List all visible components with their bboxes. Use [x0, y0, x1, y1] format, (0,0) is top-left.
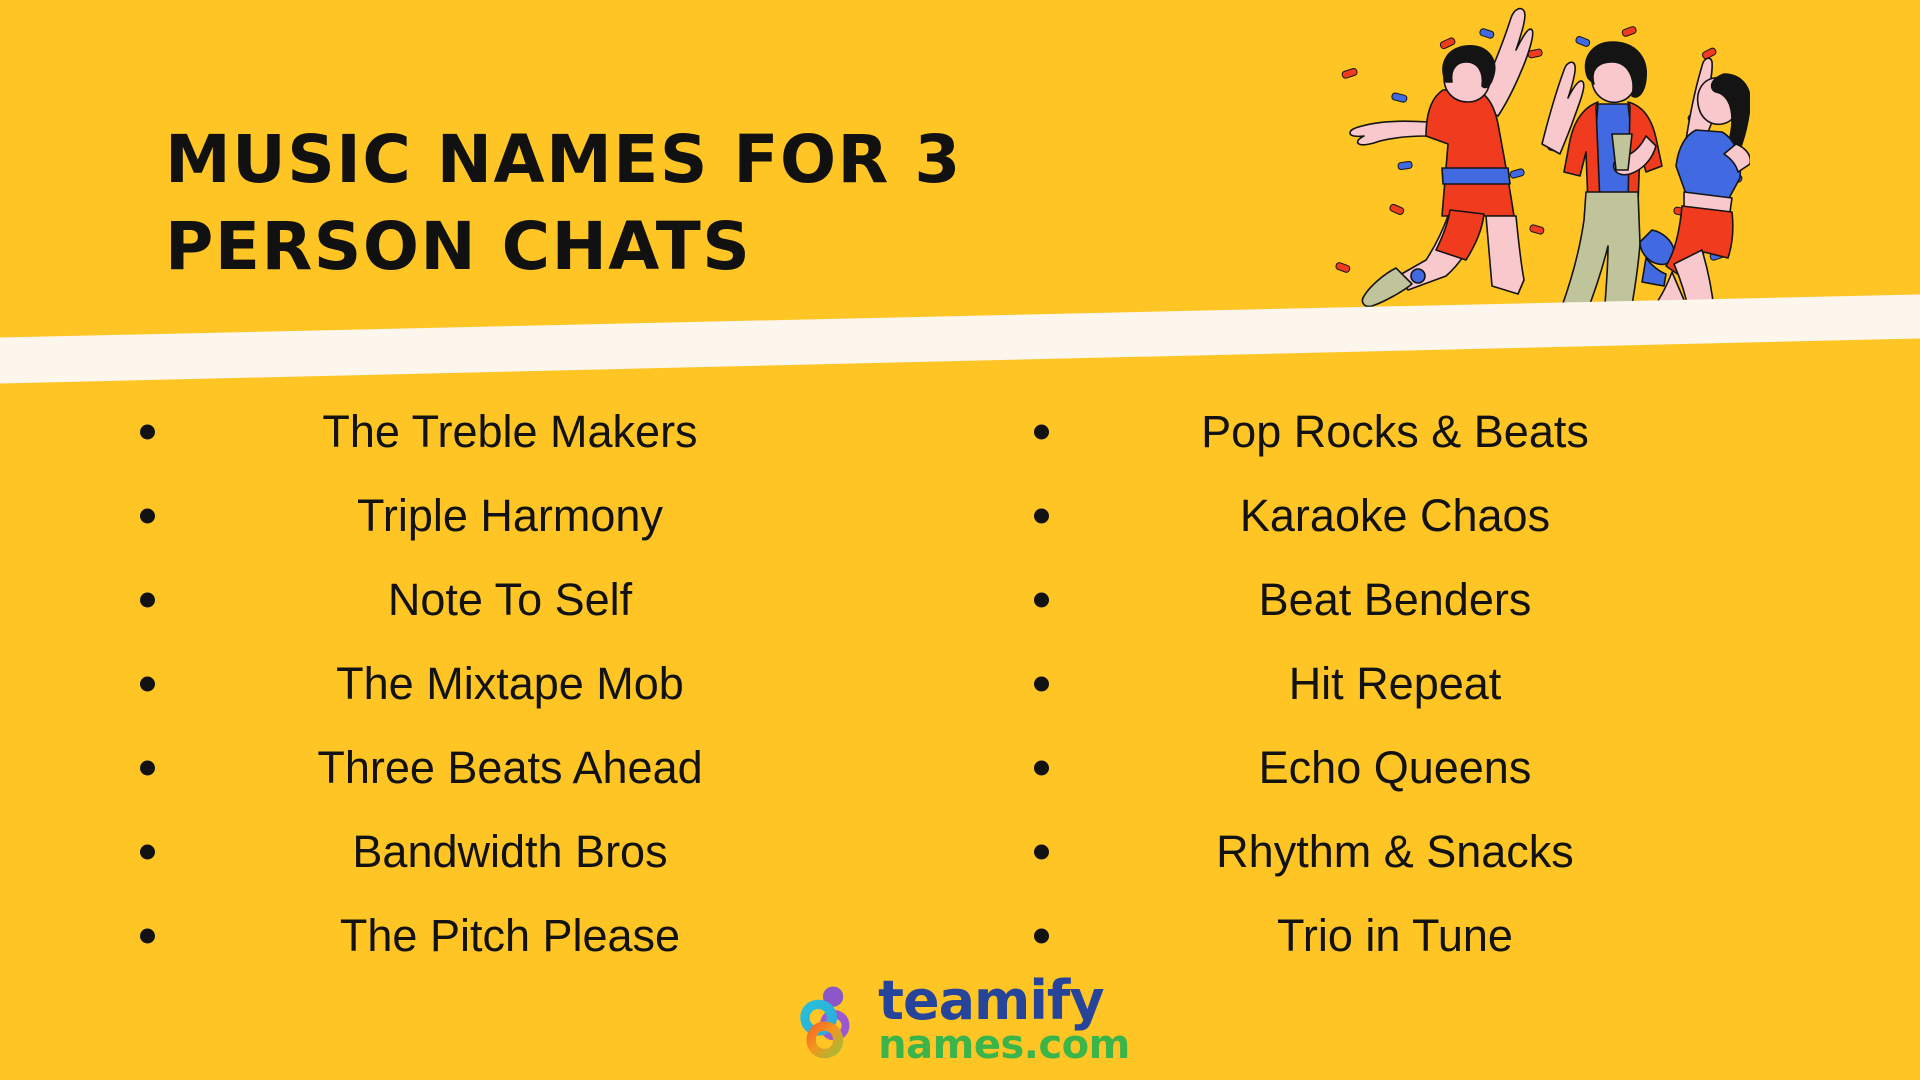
list-item-label: Rhythm & Snacks	[1216, 810, 1574, 894]
bullet-icon	[140, 593, 155, 608]
bullet-icon	[140, 425, 155, 440]
teamify-logo-icon	[790, 981, 868, 1059]
list-item[interactable]: Beat Benders	[1020, 558, 1770, 642]
logo-secondary-text: names.com	[878, 1027, 1130, 1064]
dancing-trio-illustration	[1280, 0, 1750, 324]
header-section: MUSIC NAMES FOR 3 PERSON CHATS	[0, 0, 1920, 330]
list-item-label: Echo Queens	[1259, 726, 1532, 810]
bullet-icon	[1034, 509, 1049, 524]
list-item-label: Hit Repeat	[1289, 642, 1502, 726]
list-item-label: Karaoke Chaos	[1240, 474, 1550, 558]
poster-canvas: MUSIC NAMES FOR 3 PERSON CHATS	[0, 0, 1920, 1080]
list-item[interactable]: Pop Rocks & Beats	[1020, 390, 1770, 474]
right-column: Pop Rocks & Beats Karaoke Chaos Beat Ben…	[960, 390, 1920, 978]
list-item[interactable]: Trio in Tune	[1020, 894, 1770, 978]
bullet-icon	[1034, 845, 1049, 860]
names-lists: The Treble Makers Triple Harmony Note To…	[0, 390, 1920, 978]
bullet-icon	[140, 929, 155, 944]
list-item-label: Beat Benders	[1259, 558, 1532, 642]
bullet-icon	[1034, 593, 1049, 608]
bullet-icon	[1034, 677, 1049, 692]
list-item[interactable]: Three Beats Ahead	[140, 726, 880, 810]
list-item-label: The Pitch Please	[340, 894, 680, 978]
left-name-list: The Treble Makers Triple Harmony Note To…	[140, 390, 880, 978]
list-item[interactable]: Triple Harmony	[140, 474, 880, 558]
list-item[interactable]: Note To Self	[140, 558, 880, 642]
list-item[interactable]: Bandwidth Bros	[140, 810, 880, 894]
list-item-label: Trio in Tune	[1277, 894, 1513, 978]
bullet-icon	[140, 761, 155, 776]
list-item-label: The Treble Makers	[322, 390, 697, 474]
list-item-label: Note To Self	[388, 558, 632, 642]
bullet-icon	[140, 677, 155, 692]
bullet-icon	[140, 509, 155, 524]
teamify-logo[interactable]: teamify names.com	[790, 976, 1130, 1064]
list-item[interactable]: The Treble Makers	[140, 390, 880, 474]
list-item-label: Triple Harmony	[357, 474, 663, 558]
left-column: The Treble Makers Triple Harmony Note To…	[0, 390, 960, 978]
list-item[interactable]: Karaoke Chaos	[1020, 474, 1770, 558]
page-title: MUSIC NAMES FOR 3 PERSON CHATS	[165, 116, 1065, 290]
bullet-icon	[1034, 761, 1049, 776]
logo-primary-text: teamify	[878, 976, 1130, 1026]
right-name-list: Pop Rocks & Beats Karaoke Chaos Beat Ben…	[1020, 390, 1770, 978]
list-item[interactable]: Rhythm & Snacks	[1020, 810, 1770, 894]
bullet-icon	[1034, 425, 1049, 440]
list-item[interactable]: Hit Repeat	[1020, 642, 1770, 726]
list-item[interactable]: Echo Queens	[1020, 726, 1770, 810]
bullet-icon	[1034, 929, 1049, 944]
bullet-icon	[140, 845, 155, 860]
list-item-label: The Mixtape Mob	[336, 642, 684, 726]
list-item[interactable]: The Mixtape Mob	[140, 642, 880, 726]
list-item-label: Three Beats Ahead	[317, 726, 702, 810]
list-item[interactable]: The Pitch Please	[140, 894, 880, 978]
list-item-label: Pop Rocks & Beats	[1201, 390, 1589, 474]
list-item-label: Bandwidth Bros	[352, 810, 667, 894]
logo-wordmark: teamify names.com	[878, 976, 1130, 1064]
